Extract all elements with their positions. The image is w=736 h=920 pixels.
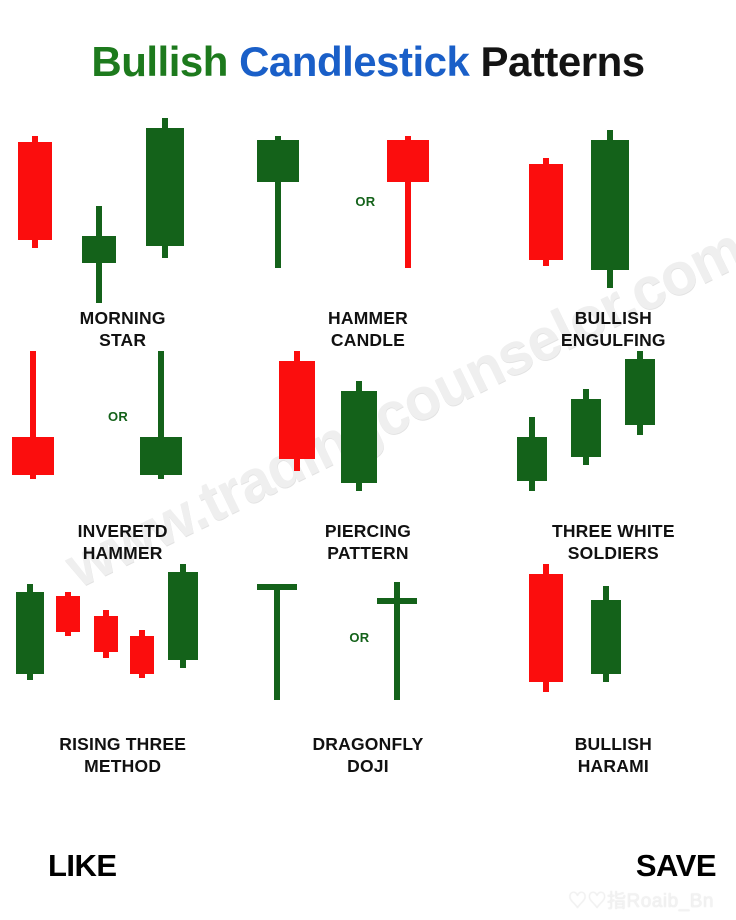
candle-body <box>140 437 182 475</box>
candle-wick <box>274 584 280 700</box>
candle-green <box>140 351 182 516</box>
candle-green <box>625 351 655 516</box>
pattern-label-piercing-pattern: PIERCING PATTERN <box>245 520 490 564</box>
title-word-patterns: Patterns <box>481 38 645 85</box>
candlestick-chart-three-white-soldiers <box>491 351 736 516</box>
pattern-cell-inverted-hammer[interactable]: ORINVERETD HAMMER <box>0 351 245 564</box>
pattern-label-bullish-harami: BULLISH HARAMI <box>491 733 736 777</box>
candle-red <box>130 564 154 729</box>
pattern-label-three-white-soldiers: THREE WHITE SOLDIERS <box>491 520 736 564</box>
candle-red <box>56 564 80 729</box>
candle-body <box>341 391 377 483</box>
pattern-cell-three-white-soldiers[interactable]: THREE WHITE SOLDIERS <box>491 351 736 564</box>
candle-body <box>571 399 601 457</box>
candle-body <box>529 574 563 682</box>
candle-red <box>94 564 118 729</box>
or-separator-label: OR <box>349 630 369 645</box>
candle-body <box>168 572 198 660</box>
pattern-row: RISING THREE METHODORDRAGONFLY DOJIBULLI… <box>0 564 736 777</box>
candle-body <box>82 236 116 263</box>
pattern-cell-hammer-candle[interactable]: ORHAMMER CANDLE <box>245 118 490 351</box>
candle-body <box>517 437 547 481</box>
candle-green <box>257 118 299 303</box>
candlestick-chart-inverted-hammer: OR <box>0 351 245 516</box>
pattern-cell-piercing-pattern[interactable]: PIERCING PATTERN <box>245 351 490 564</box>
candle-green <box>517 351 547 516</box>
candlestick-chart-morning-star <box>0 118 245 303</box>
candle-green <box>257 564 297 729</box>
candle-green <box>16 564 44 729</box>
candlestick-chart-piercing-pattern <box>245 351 490 516</box>
pattern-label-hammer-candle: HAMMER CANDLE <box>245 307 490 351</box>
candle-body <box>146 128 184 246</box>
title-word-bullish: Bullish <box>91 38 228 85</box>
candle-green <box>377 564 417 729</box>
candle-body <box>16 592 44 674</box>
candle-body <box>94 616 118 652</box>
or-separator-label: OR <box>355 194 375 209</box>
candlestick-chart-bullish-engulfing <box>491 118 736 303</box>
pattern-label-morning-star: MORNING STAR <box>0 307 245 351</box>
candle-body <box>18 142 52 240</box>
pattern-cell-dragonfly-doji[interactable]: ORDRAGONFLY DOJI <box>245 564 490 777</box>
candlestick-chart-rising-three-method <box>0 564 245 729</box>
title-word-candlestick: Candlestick <box>239 38 469 85</box>
candle-red <box>529 118 563 303</box>
candle-body <box>377 598 417 604</box>
candle-red <box>529 564 563 729</box>
candle-body <box>12 437 54 475</box>
page-title: Bullish Candlestick Patterns <box>0 38 736 86</box>
candle-green <box>591 118 629 303</box>
or-separator-label: OR <box>108 409 128 424</box>
pattern-row: ORINVERETD HAMMERPIERCING PATTERNTHREE W… <box>0 351 736 564</box>
pattern-label-dragonfly-doji: DRAGONFLY DOJI <box>245 733 490 777</box>
pattern-label-bullish-engulfing: BULLISH ENGULFING <box>491 307 736 351</box>
pattern-row: MORNING STARORHAMMER CANDLEBULLISH ENGUL… <box>0 118 736 351</box>
footer: LIKE SAVE ♡♡指Roaib_Bn <box>0 848 736 908</box>
candle-green <box>591 564 621 729</box>
candlestick-chart-hammer-candle: OR <box>245 118 490 303</box>
candle-green <box>341 351 377 516</box>
pattern-label-inverted-hammer: INVERETD HAMMER <box>0 520 245 564</box>
candle-body <box>591 140 629 270</box>
candle-body <box>130 636 154 674</box>
save-call-to-action[interactable]: SAVE <box>636 848 716 884</box>
candle-green <box>571 351 601 516</box>
pattern-cell-bullish-engulfing[interactable]: BULLISH ENGULFING <box>491 118 736 351</box>
pattern-cell-bullish-harami[interactable]: BULLISH HARAMI <box>491 564 736 777</box>
candle-body <box>591 600 621 674</box>
candle-red <box>18 118 52 303</box>
candle-body <box>529 164 563 260</box>
candle-body <box>257 584 297 590</box>
candle-green <box>168 564 198 729</box>
candle-green <box>82 118 116 303</box>
candle-green <box>146 118 184 303</box>
candle-red <box>387 118 429 303</box>
candle-red <box>12 351 54 516</box>
pattern-grid: MORNING STARORHAMMER CANDLEBULLISH ENGUL… <box>0 118 736 777</box>
candle-body <box>56 596 80 632</box>
candle-red <box>279 351 315 516</box>
like-call-to-action[interactable]: LIKE <box>48 848 117 884</box>
candlestick-chart-bullish-harami <box>491 564 736 729</box>
candle-body <box>279 361 315 459</box>
candle-body <box>387 140 429 182</box>
pattern-cell-rising-three-method[interactable]: RISING THREE METHOD <box>0 564 245 777</box>
pattern-cell-morning-star[interactable]: MORNING STAR <box>0 118 245 351</box>
candle-body <box>257 140 299 182</box>
candle-body <box>625 359 655 425</box>
author-watermark: ♡♡指Roaib_Bn <box>568 886 714 913</box>
pattern-label-rising-three-method: RISING THREE METHOD <box>0 733 245 777</box>
candlestick-chart-dragonfly-doji: OR <box>245 564 490 729</box>
